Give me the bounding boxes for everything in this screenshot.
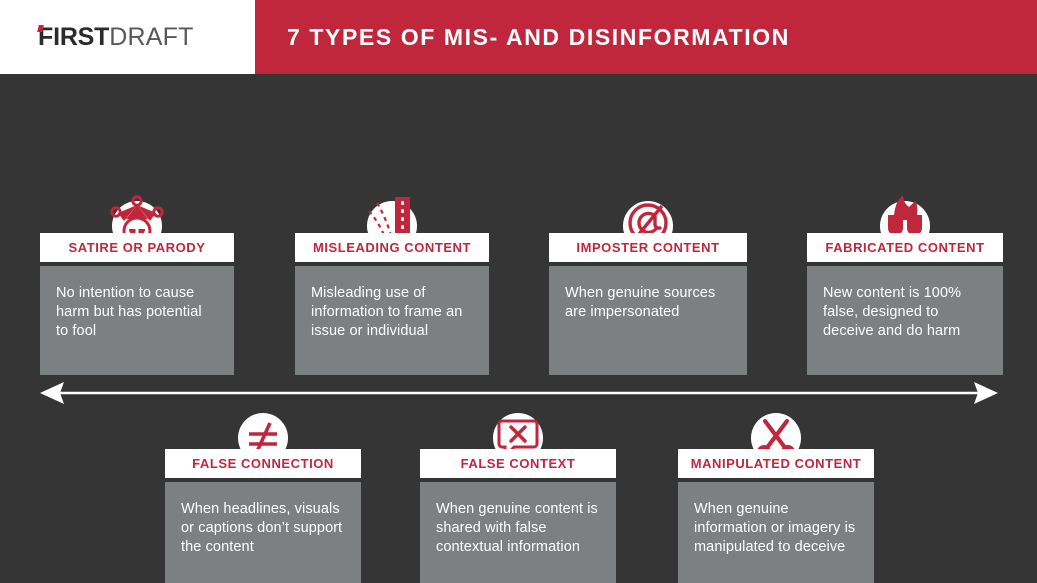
header-bar: FIRSTDRAFT 7 TYPES OF MIS- AND DISINFORM…: [0, 0, 1037, 74]
page-title: 7 TYPES OF MIS- AND DISINFORMATION: [287, 24, 790, 51]
title-banner: 7 TYPES OF MIS- AND DISINFORMATION: [255, 0, 1037, 74]
card-label-band: FALSE CONTEXT: [420, 449, 616, 478]
card-body-band: When genuine information or imagery is m…: [678, 482, 874, 583]
card-description: New content is 100% false, designed to d…: [823, 284, 987, 341]
card-imposter-content: IMPOSTER CONTENT When genuine sources ar…: [549, 233, 747, 375]
card-label: FALSE CONTEXT: [461, 456, 576, 471]
card-label-band: FALSE CONNECTION: [165, 449, 361, 478]
card-label: MANIPULATED CONTENT: [691, 456, 862, 471]
card-description: When headlines, visuals or captions don’…: [181, 500, 345, 557]
spectrum-arrow: [38, 380, 1000, 406]
brand-logo: FIRSTDRAFT: [0, 0, 255, 74]
card-false-connection: FALSE CONNECTION When headlines, visuals…: [165, 449, 361, 583]
logo-draft-word: DRAFT: [109, 23, 193, 51]
logo-text: FIRSTDRAFT: [38, 23, 194, 52]
infographic-board: SATIRE OR PARODY No intention to cause h…: [0, 74, 1037, 559]
card-label-band: FABRICATED CONTENT: [807, 233, 1003, 262]
card-body-band: When genuine content is shared with fals…: [420, 482, 616, 583]
card-label: FABRICATED CONTENT: [825, 240, 984, 255]
card-body-band: When genuine sources are impersonated: [549, 266, 747, 375]
card-label-band: MISLEADING CONTENT: [295, 233, 489, 262]
card-manipulated-content: MANIPULATED CONTENT When genuine informa…: [678, 449, 874, 583]
card-label: FALSE CONNECTION: [192, 456, 334, 471]
card-description: Misleading use of information to frame a…: [311, 284, 473, 341]
card-satire-or-parody: SATIRE OR PARODY No intention to cause h…: [40, 233, 234, 375]
card-label: IMPOSTER CONTENT: [576, 240, 719, 255]
card-body-band: Misleading use of information to frame a…: [295, 266, 489, 375]
card-label-band: IMPOSTER CONTENT: [549, 233, 747, 262]
card-label-band: MANIPULATED CONTENT: [678, 449, 874, 478]
card-label: MISLEADING CONTENT: [313, 240, 471, 255]
card-label: SATIRE OR PARODY: [69, 240, 206, 255]
card-misleading-content: MISLEADING CONTENT Misleading use of inf…: [295, 233, 489, 375]
card-label-band: SATIRE OR PARODY: [40, 233, 234, 262]
card-description: When genuine information or imagery is m…: [694, 500, 858, 557]
card-fabricated-content: FABRICATED CONTENT New content is 100% f…: [807, 233, 1003, 375]
card-description: No intention to cause harm but has poten…: [56, 284, 218, 341]
logo-first-word: FIRST: [38, 23, 109, 51]
card-description: When genuine content is shared with fals…: [436, 500, 600, 557]
card-body-band: When headlines, visuals or captions don’…: [165, 482, 361, 583]
card-false-context: FALSE CONTEXT When genuine content is sh…: [420, 449, 616, 583]
card-description: When genuine sources are impersonated: [565, 284, 731, 322]
card-body-band: New content is 100% false, designed to d…: [807, 266, 1003, 375]
card-body-band: No intention to cause harm but has poten…: [40, 266, 234, 375]
